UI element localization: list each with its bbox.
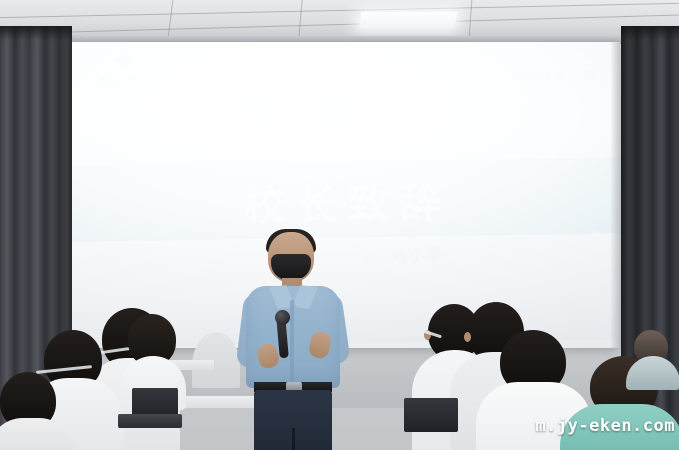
brand-name-latin: Celux: [513, 68, 553, 84]
audience-member: [626, 330, 679, 390]
brand-name: Celux家乐事: [513, 66, 596, 86]
microphone-icon: [275, 310, 290, 325]
presenter: [238, 232, 350, 450]
photo-scene: ✤ 国际工大学 UNIVERSITY Celux家乐事 家 居 生 活 专 家 …: [0, 0, 679, 450]
university-name-cn: 国际工大学: [88, 73, 158, 86]
screen-right-edge: [610, 42, 620, 348]
brand-logo: Celux家乐事 家 居 生 活 专 家: [513, 66, 596, 94]
brand-tagline: 家 居 生 活 专 家: [513, 88, 596, 94]
curtain-header-left: [0, 26, 72, 40]
university-logo: ✤ 国际工大学 UNIVERSITY: [88, 52, 158, 91]
brand-name-cn: 家乐事: [553, 68, 596, 84]
ceiling-seam: [168, 0, 174, 38]
audience-ear: [464, 332, 471, 342]
ceiling-light-icon: [359, 12, 458, 28]
slide-subtitle: — 刘小平: [366, 244, 445, 265]
audience-torso: [626, 356, 679, 390]
ceiling-seam: [0, 15, 679, 35]
audience-torso: [0, 418, 74, 450]
decorative-circle: [586, 232, 606, 252]
laptop-base: [118, 414, 182, 428]
ceiling-seam: [298, 0, 302, 38]
laptop: [404, 398, 458, 432]
audience-member: [0, 372, 72, 450]
university-name-en: UNIVERSITY: [88, 87, 158, 91]
trouser-seam: [292, 428, 295, 450]
presenter-shirt-placket: [290, 300, 294, 386]
ceiling-seam: [469, 0, 473, 38]
curtain-header-right: [621, 26, 679, 40]
watermark: m.jy-eken.com: [535, 416, 675, 436]
slide-title: 校长致辞: [66, 157, 620, 244]
ceiling-seam: [0, 3, 679, 18]
university-emblem-icon: ✤: [88, 52, 158, 70]
